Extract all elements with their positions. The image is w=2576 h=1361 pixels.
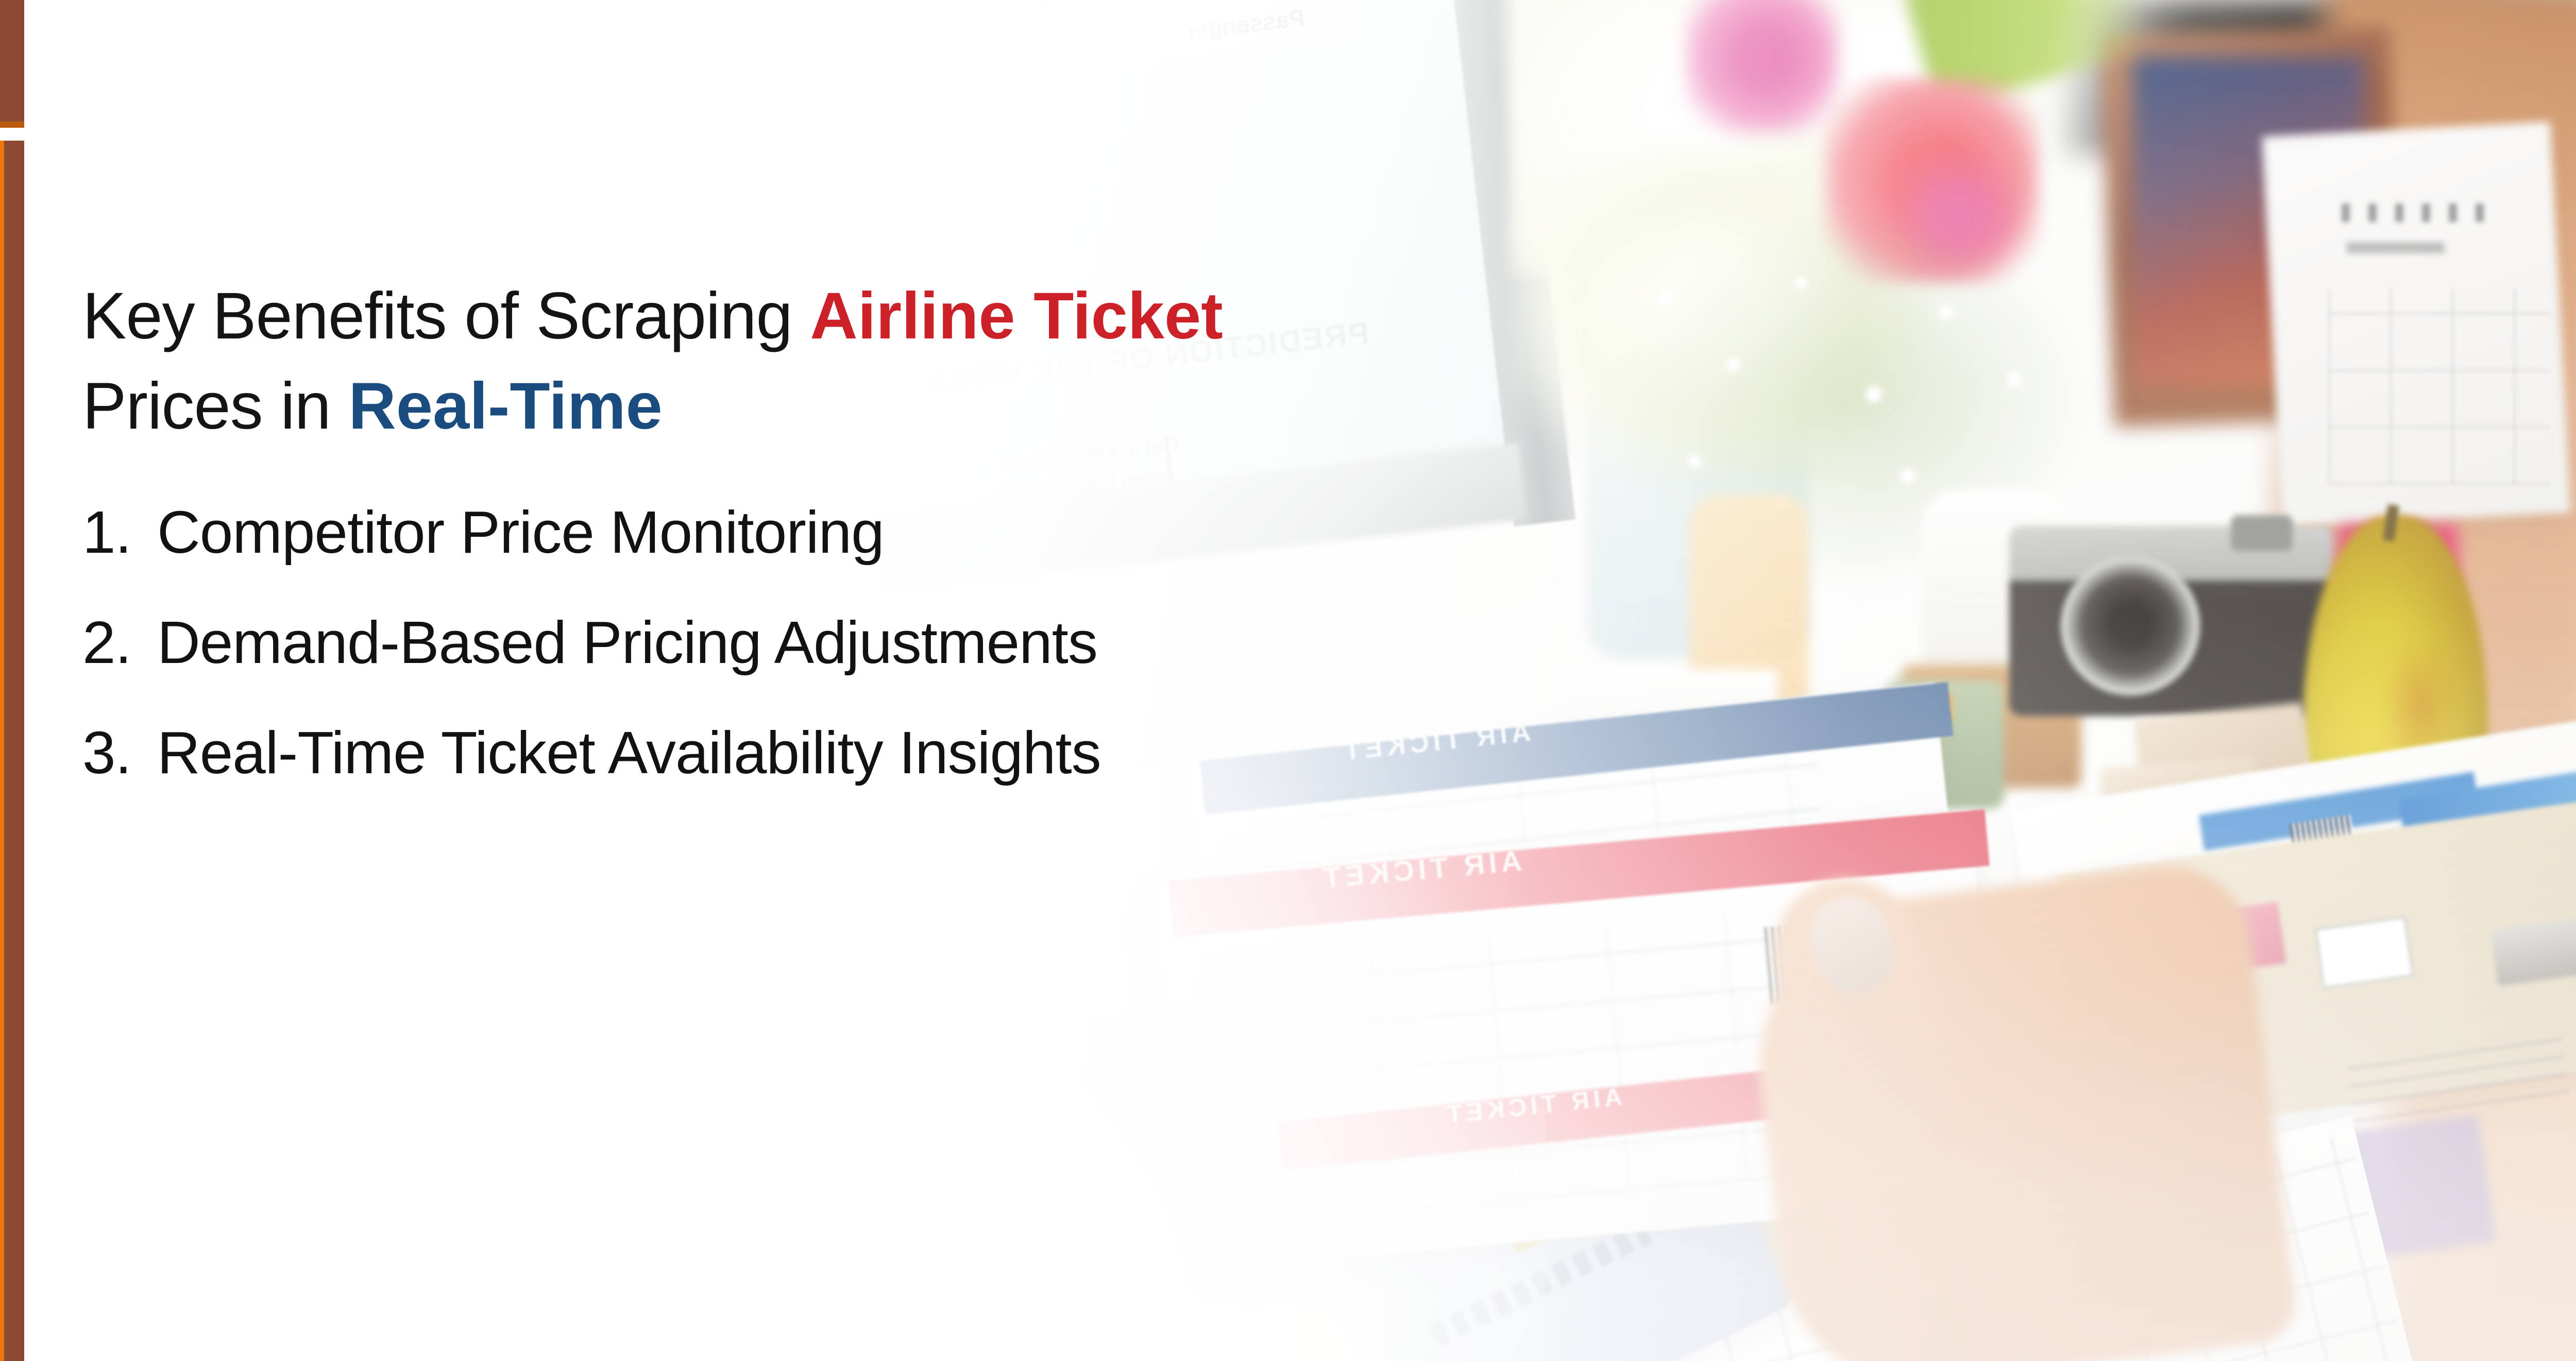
list-item-number: 3. — [82, 723, 157, 782]
list-item-number: 1. — [82, 502, 157, 562]
page-title: Key Benefits of Scraping Airline Ticket … — [82, 271, 1473, 452]
list-item: 2. Demand-Based Pricing Adjustments — [82, 613, 1101, 672]
benefits-list: 1. Competitor Price Monitoring 2. Demand… — [82, 502, 1101, 833]
list-item-label: Competitor Price Monitoring — [157, 502, 884, 562]
headline-airline-ticket: Airline Ticket — [810, 279, 1223, 353]
list-item-number: 2. — [82, 613, 157, 672]
list-item: 1. Competitor Price Monitoring — [82, 502, 1101, 562]
list-item: 3. Real-Time Ticket Availability Insight… — [82, 723, 1101, 782]
headline-line2-plain: Prices in — [82, 369, 348, 443]
headline-real-time: Real-Time — [348, 369, 662, 443]
list-item-label: Real-Time Ticket Availability Insights — [157, 723, 1101, 782]
headline-line1-plain: Key Benefits of Scraping — [82, 279, 810, 353]
slide-canvas: Menu Passenger PREDICTION OF THE WEEK Ge… — [0, 0, 2576, 1361]
list-item-label: Demand-Based Pricing Adjustments — [157, 613, 1097, 672]
slide-content: Key Benefits of Scraping Airline Ticket … — [0, 0, 2576, 1361]
